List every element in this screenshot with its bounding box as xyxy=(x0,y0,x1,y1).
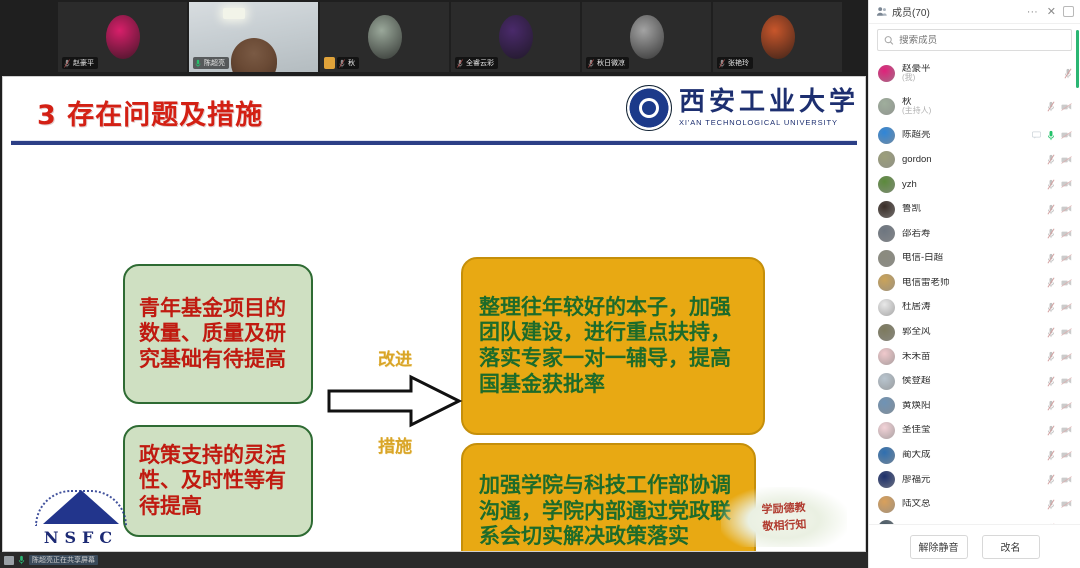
participant-role: (我) xyxy=(902,74,1057,82)
participants-search-row xyxy=(869,24,1080,57)
university-name-cn: 西安工业大学 xyxy=(679,89,859,115)
participant-name-wrap: 廖福元 xyxy=(902,475,1040,485)
camera-icon[interactable] xyxy=(1061,156,1072,164)
participant-controls xyxy=(1047,228,1072,239)
list-item[interactable]: 陈超亮 xyxy=(869,123,1080,148)
list-item[interactable]: 电信-白超 xyxy=(869,246,1080,271)
right-arrow-icon xyxy=(325,373,463,429)
list-item[interactable]: gordon xyxy=(869,148,1080,173)
participant-tile[interactable]: 陈超亮 xyxy=(189,2,318,72)
participant-controls xyxy=(1047,179,1072,190)
participant-name: 侯登超 xyxy=(902,376,1040,386)
list-item[interactable]: 蔺大成 xyxy=(869,443,1080,468)
title-divider xyxy=(11,140,857,145)
mic-muted-icon[interactable] xyxy=(1047,228,1055,239)
host-badge-icon xyxy=(324,57,335,69)
mic-muted-icon[interactable] xyxy=(1047,101,1055,112)
arrow-label-top: 改进 xyxy=(353,345,437,370)
participant-tile[interactable]: 秋日微凉 xyxy=(582,2,711,72)
avatar xyxy=(761,15,795,59)
measure-box-1: 整理往年较好的本子，加强团队建设，进行重点扶持，落实专家一对一辅导，提高国基金获… xyxy=(461,257,765,435)
search-icon xyxy=(884,35,894,46)
meeting-window: 赵豪平陈超亮秋全睿云彩秋日微凉张艳玲 3 存在问题及措施 西安工业大学 XI'A… xyxy=(0,0,1080,568)
avatar xyxy=(878,225,895,242)
participant-filmstrip[interactable]: 赵豪平陈超亮秋全睿云彩秋日微凉张艳玲 xyxy=(0,0,868,74)
panel-scrollbar[interactable] xyxy=(1076,30,1079,88)
camera-icon[interactable] xyxy=(1061,328,1072,336)
panel-more-button[interactable]: ··· xyxy=(1025,6,1040,18)
participant-name: 邵若寿 xyxy=(902,229,1040,239)
camera-icon[interactable] xyxy=(1061,180,1072,188)
mic-muted-icon[interactable] xyxy=(1047,450,1055,461)
avatar xyxy=(878,65,895,82)
tile-name-bar: 赵豪平 xyxy=(62,57,98,69)
measure-text-2: 加强学院与科技工作部协调沟通，学院内部通过党政联系会切实解决政策落实 xyxy=(479,473,738,550)
page-title: 3 存在问题及措施 xyxy=(37,93,263,132)
camera-icon[interactable] xyxy=(1061,230,1072,238)
list-item[interactable]: 秋(主持人) xyxy=(869,90,1080,123)
participant-controls xyxy=(1047,351,1072,362)
participant-name-wrap: 杜居涛 xyxy=(902,302,1040,312)
participant-name-wrap: 蔺大成 xyxy=(902,450,1040,460)
avatar xyxy=(106,15,140,59)
camera-icon[interactable] xyxy=(1061,402,1072,410)
participant-controls xyxy=(1047,425,1072,436)
participants-panel: 成员(70) ··· ✕ 赵豪平(我)秋(主持人)陈超亮gordonyzh鲁凯邵… xyxy=(868,0,1080,568)
mic-muted-icon[interactable] xyxy=(1047,179,1055,190)
participant-tile[interactable]: 张艳玲 xyxy=(713,2,842,72)
participant-name-wrap: 禾禾苗 xyxy=(902,352,1040,362)
school-motto-stamp: 学励德教敬相行知 xyxy=(721,487,847,547)
tile-name-label: 秋 xyxy=(348,58,355,68)
list-item[interactable]: 吕志刚 xyxy=(869,517,1080,525)
participant-name-wrap: yzh xyxy=(902,180,1040,190)
problem-box-2: 政策支持的灵活性、及时性等有待提高 xyxy=(123,425,313,537)
university-name-en: XI'AN TECHNOLOGICAL UNIVERSITY xyxy=(679,118,859,127)
mic-icon xyxy=(18,555,25,565)
tile-name-label: 秋日微凉 xyxy=(597,58,625,68)
avatar xyxy=(878,127,895,144)
participant-name: 电信雷老师 xyxy=(902,278,1040,288)
mic-muted-icon[interactable] xyxy=(1047,523,1055,524)
participant-name-wrap: 赵豪平(我) xyxy=(902,64,1057,82)
participant-name: 黄焕阳 xyxy=(902,401,1040,411)
participant-name: 陆文总 xyxy=(902,499,1040,509)
participant-name-wrap: 电信雷老师 xyxy=(902,278,1040,288)
mic-muted-icon[interactable] xyxy=(1047,154,1055,165)
search-input[interactable] xyxy=(899,35,1065,46)
avatar xyxy=(878,373,895,390)
avatar xyxy=(878,274,895,291)
participant-controls xyxy=(1047,376,1072,387)
nsfc-mark-icon xyxy=(33,490,129,534)
list-item[interactable]: 禾禾苗 xyxy=(869,344,1080,369)
tile-name-bar: 陈超亮 xyxy=(193,57,229,69)
participant-name-wrap: 郭全风 xyxy=(902,327,1040,337)
avatar xyxy=(878,176,895,193)
problem-box-1: 青年基金项目的数量、质量及研究基础有待提高 xyxy=(123,264,313,404)
screen-share-indicator: 陈超亮正在共享屏幕 xyxy=(0,552,868,568)
list-item[interactable]: 黄焕阳 xyxy=(869,394,1080,419)
problem-text-1: 青年基金项目的数量、质量及研究基础有待提高 xyxy=(139,296,297,373)
avatar xyxy=(878,151,895,168)
participant-controls xyxy=(1047,400,1072,411)
tile-name-label: 全睿云彩 xyxy=(466,58,494,68)
participant-name-wrap: 圣佳莹 xyxy=(902,425,1040,435)
people-icon xyxy=(876,6,887,17)
participant-controls xyxy=(1047,499,1072,510)
camera-icon[interactable] xyxy=(1061,426,1072,434)
avatar xyxy=(630,15,664,59)
camera-icon[interactable] xyxy=(1061,205,1072,213)
mic-muted-icon[interactable] xyxy=(1047,499,1055,510)
mic-muted-icon[interactable] xyxy=(1047,302,1055,313)
share-indicator-label: 陈超亮正在共享屏幕 xyxy=(29,555,98,565)
participant-name-wrap: 侯登超 xyxy=(902,376,1040,386)
mic-muted-icon[interactable] xyxy=(1047,327,1055,338)
participant-controls xyxy=(1047,523,1072,524)
screen-share-icon xyxy=(4,556,14,565)
avatar xyxy=(878,447,895,464)
tile-name-bar: 秋 xyxy=(337,57,359,69)
participant-name-wrap: 邵若寿 xyxy=(902,229,1040,239)
participant-controls xyxy=(1047,302,1072,313)
avatar xyxy=(878,324,895,341)
mic-muted-icon[interactable] xyxy=(339,59,345,68)
camera-icon[interactable] xyxy=(1061,279,1072,287)
mic-muted-icon[interactable] xyxy=(1047,351,1055,362)
participant-name-wrap: 黄焕阳 xyxy=(902,401,1040,411)
avatar xyxy=(368,15,402,59)
participant-name-wrap: 陈超亮 xyxy=(902,130,1025,140)
mic-muted-icon[interactable] xyxy=(1047,425,1055,436)
camera-icon[interactable] xyxy=(1061,500,1072,508)
list-item[interactable]: 廖福元 xyxy=(869,467,1080,492)
participant-name: 禾禾苗 xyxy=(902,352,1040,362)
participant-controls xyxy=(1047,101,1072,112)
participant-role: (主持人) xyxy=(902,107,1040,115)
arrow-label-bottom: 措施 xyxy=(353,432,437,457)
tile-name-label: 赵豪平 xyxy=(73,58,94,68)
tile-name-label: 张艳玲 xyxy=(728,58,749,68)
avatar xyxy=(878,496,895,513)
participant-controls xyxy=(1047,204,1072,215)
school-motto-text: 学励德教敬相行知 xyxy=(761,499,807,534)
participant-controls xyxy=(1032,130,1072,141)
participant-name: 圣佳莹 xyxy=(902,425,1040,435)
video-stage: 赵豪平陈超亮秋全睿云彩秋日微凉张艳玲 3 存在问题及措施 西安工业大学 XI'A… xyxy=(0,0,868,568)
tile-name-label: 陈超亮 xyxy=(204,58,225,68)
camera-icon[interactable] xyxy=(1061,103,1072,111)
list-item[interactable]: yzh xyxy=(869,172,1080,197)
chat-icon[interactable] xyxy=(1032,131,1041,139)
camera-icon[interactable] xyxy=(1061,476,1072,484)
mic-muted-icon[interactable] xyxy=(457,59,463,68)
improvement-arrow-group: 改进 措施 xyxy=(325,345,463,457)
tile-name-bar: 张艳玲 xyxy=(717,57,753,69)
mic-muted-icon[interactable] xyxy=(64,59,70,68)
participant-tile[interactable]: 秋 xyxy=(320,2,449,72)
participant-name: 陈超亮 xyxy=(902,130,1025,140)
participant-controls xyxy=(1047,450,1072,461)
mic-muted-icon[interactable] xyxy=(719,59,725,68)
panel-detach-button[interactable] xyxy=(1063,6,1074,17)
list-item[interactable]: 赵豪平(我) xyxy=(869,57,1080,90)
rename-button[interactable]: 改名 xyxy=(982,535,1040,559)
camera-icon[interactable] xyxy=(1061,353,1072,361)
avatar xyxy=(499,15,533,59)
camera-icon[interactable] xyxy=(1061,131,1072,139)
avatar xyxy=(878,422,895,439)
participant-controls xyxy=(1047,277,1072,288)
list-item[interactable]: 郭全风 xyxy=(869,320,1080,345)
shared-screen-slide[interactable]: 3 存在问题及措施 西安工业大学 XI'AN TECHNOLOGICAL UNI… xyxy=(2,76,866,552)
mic-muted-icon[interactable] xyxy=(1047,474,1055,485)
list-item[interactable]: 圣佳莹 xyxy=(869,418,1080,443)
participant-name-wrap: 鲁凯 xyxy=(902,204,1040,214)
participant-controls xyxy=(1047,327,1072,338)
mic-muted-icon[interactable] xyxy=(1047,253,1055,264)
participants-panel-header: 成员(70) ··· ✕ xyxy=(869,0,1080,24)
participants-panel-footer: 解除静音 改名 xyxy=(869,524,1080,568)
camera-icon[interactable] xyxy=(1061,254,1072,262)
list-item[interactable]: 电信雷老师 xyxy=(869,271,1080,296)
avatar xyxy=(878,98,895,115)
participant-tile[interactable]: 全睿云彩 xyxy=(451,2,580,72)
avatar xyxy=(878,520,895,524)
nsfc-logo: NSFC xyxy=(17,481,145,547)
avatar xyxy=(878,250,895,267)
mic-muted-icon[interactable] xyxy=(1047,277,1055,288)
camera-icon[interactable] xyxy=(1061,303,1072,311)
participant-name-wrap: 陆文总 xyxy=(902,499,1040,509)
camera-icon[interactable] xyxy=(1061,377,1072,385)
camera-icon[interactable] xyxy=(1061,451,1072,459)
list-item[interactable]: 侯登超 xyxy=(869,369,1080,394)
participant-name: 廖福元 xyxy=(902,475,1040,485)
participant-controls xyxy=(1064,68,1072,79)
avatar xyxy=(878,397,895,414)
avatar xyxy=(878,471,895,488)
list-item[interactable]: 邵若寿 xyxy=(869,221,1080,246)
mic-on-icon[interactable] xyxy=(195,59,201,68)
participant-name: 蔺大成 xyxy=(902,450,1040,460)
measure-text-1: 整理往年较好的本子，加强团队建设，进行重点扶持，落实专家一对一辅导，提高国基金获… xyxy=(479,295,747,397)
mic-muted-icon[interactable] xyxy=(1047,376,1055,387)
avatar xyxy=(878,348,895,365)
participant-name: 郭全风 xyxy=(902,327,1040,337)
participant-name: yzh xyxy=(902,180,1040,190)
list-item[interactable]: 杜居涛 xyxy=(869,295,1080,320)
university-logo: 西安工业大学 XI'AN TECHNOLOGICAL UNIVERSITY xyxy=(626,85,859,131)
avatar xyxy=(878,299,895,316)
participant-name: 杜居涛 xyxy=(902,302,1040,312)
participant-name: 电信-白超 xyxy=(902,253,1040,263)
participant-name-wrap: gordon xyxy=(902,155,1040,165)
avatar xyxy=(878,201,895,218)
participant-tile[interactable]: 赵豪平 xyxy=(58,2,187,72)
university-seal-icon xyxy=(626,85,672,131)
participant-name: 赵豪平 xyxy=(902,64,1057,74)
participant-controls xyxy=(1047,154,1072,165)
participants-count-label: 成员(70) xyxy=(892,4,930,19)
problem-text-2: 政策支持的灵活性、及时性等有待提高 xyxy=(139,443,297,520)
participant-name-wrap: 秋(主持人) xyxy=(902,97,1040,115)
mic-muted-icon[interactable] xyxy=(588,59,594,68)
panel-close-button[interactable]: ✕ xyxy=(1045,5,1058,18)
mic-on-icon[interactable] xyxy=(1047,130,1055,141)
participants-list[interactable]: 赵豪平(我)秋(主持人)陈超亮gordonyzh鲁凯邵若寿电信-白超电信雷老师杜… xyxy=(869,57,1080,524)
participant-name: gordon xyxy=(902,155,1040,165)
list-item[interactable]: 鲁凯 xyxy=(869,197,1080,222)
mic-muted-icon[interactable] xyxy=(1047,400,1055,411)
mic-muted-icon[interactable] xyxy=(1047,204,1055,215)
search-box[interactable] xyxy=(877,29,1072,51)
tile-name-bar: 全睿云彩 xyxy=(455,57,498,69)
list-item[interactable]: 陆文总 xyxy=(869,492,1080,517)
participant-name: 鲁凯 xyxy=(902,204,1040,214)
mic-muted-icon[interactable] xyxy=(1064,68,1072,79)
participant-controls xyxy=(1047,253,1072,264)
participant-name-wrap: 电信-白超 xyxy=(902,253,1040,263)
tile-name-bar: 秋日微凉 xyxy=(586,57,629,69)
unmute-button[interactable]: 解除静音 xyxy=(910,535,968,559)
measure-box-2: 加强学院与科技工作部协调沟通，学院内部通过党政联系会切实解决政策落实 xyxy=(461,443,756,552)
participant-controls xyxy=(1047,474,1072,485)
